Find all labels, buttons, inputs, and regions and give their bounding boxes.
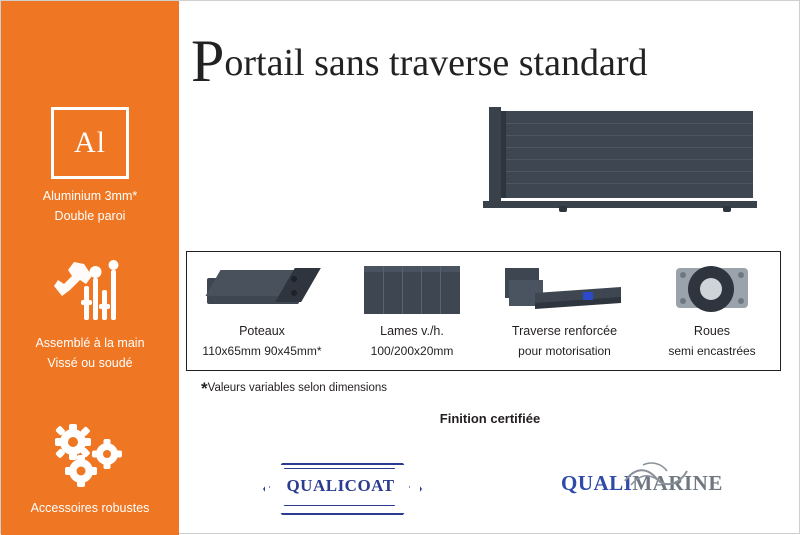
component-lames: Lames v./h. 100/200x20mm [337,252,487,372]
page-title: Portail sans traverse standard [191,35,648,87]
component-lames-label: Lames v./h. [337,322,487,340]
wave-icon [623,461,693,487]
reinforced-crossbar-icon [487,258,642,320]
component-poteaux: Poteaux 110x65mm 90x45mm* [187,252,337,372]
gate-rail [483,201,757,208]
slide-page: Al Aluminium 3mm* Double paroi [0,0,800,534]
gate-photo [471,101,771,225]
component-traverse: Traverse renforcée pour motorisation [487,252,642,372]
component-traverse-spec: pour motorisation [487,342,642,360]
gate-panel [501,111,753,198]
gate-wheel [559,206,567,212]
component-roues-spec: semi encastrées [642,342,782,360]
slats-icon [337,258,487,320]
footnote-text: Valeurs variables selon dimensions [208,382,387,394]
aluminium-badge-icon: Al [1,107,179,179]
feature-assemblage-line1: Assemblé à la main [1,333,179,353]
gate-post [489,107,501,204]
sidebar-feature-accessoires: Accessoires robustes [1,421,179,518]
qualimarine-logo-prefix: QUALI [561,471,632,495]
qualicoat-logo-text: QUALICOAT [263,476,418,496]
qualicoat-logo: QUALICOAT [263,463,418,511]
finition-certifiee-label: Finition certifiée [1,411,800,426]
sidebar-feature-aluminium: Al Aluminium 3mm* Double paroi [1,107,179,226]
footnote: *Valeurs variables selon dimensions [201,379,387,399]
sidebar: Al Aluminium 3mm* Double paroi [1,1,179,535]
components-box: Poteaux 110x65mm 90x45mm* Lames v./h. 10… [186,251,781,371]
sidebar-feature-assemblage: Assemblé à la main Vissé ou soudé [1,256,179,373]
component-lames-spec: 100/200x20mm [337,342,487,360]
wrench-tools-icon [1,256,179,326]
component-traverse-label: Traverse renforcée [487,322,642,340]
component-poteaux-spec: 110x65mm 90x45mm* [187,342,337,360]
gate-illustration [479,107,757,212]
qualimarine-logo: QUALIMARINE [561,471,711,505]
wheel-icon [642,258,782,320]
feature-assemblage-line2: Vissé ou soudé [1,353,179,373]
page-title-dropcap: P [191,28,224,94]
component-roues-label: Roues [642,322,782,340]
component-roues: Roues semi encastrées [642,252,782,372]
footnote-star: * [201,379,208,398]
feature-aluminium-line2: Double paroi [1,206,179,226]
feature-accessoires-line1: Accessoires robustes [1,498,179,518]
component-poteaux-label: Poteaux [187,322,337,340]
page-title-rest: ortail sans traverse standard [224,42,647,84]
al-badge-label: Al [51,107,129,179]
post-profile-icon [187,258,337,320]
gate-wheel [723,206,731,212]
feature-aluminium-line1: Aluminium 3mm* [1,186,179,206]
gears-icon [1,421,179,491]
